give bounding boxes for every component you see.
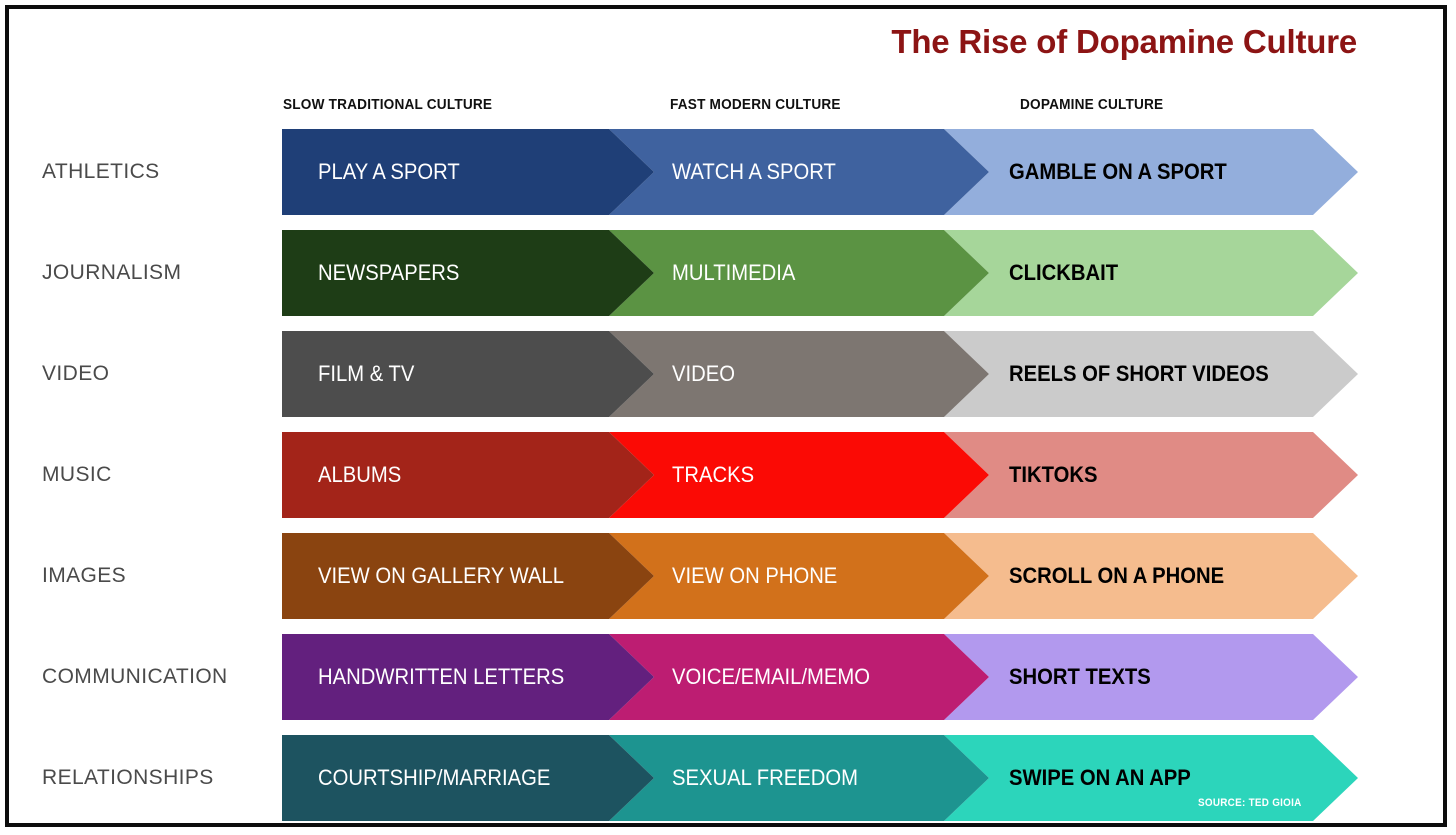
chevron-segment[interactable]: PLAY A SPORT bbox=[282, 129, 654, 215]
row-label-athletics: ATHLETICS bbox=[42, 129, 278, 215]
chevron-segment[interactable]: VIEW ON PHONE bbox=[609, 533, 989, 619]
column-header-dopamine-culture: DOPAMINE CULTURE bbox=[1020, 97, 1163, 113]
chevron-segment-label: COURTSHIP/MARRIAGE bbox=[318, 765, 550, 791]
chevron-row: HANDWRITTEN LETTERSVOICE/EMAIL/MEMOSHORT… bbox=[282, 634, 1358, 720]
infographic-frame: The Rise of Dopamine Culture SLOW TRADIT… bbox=[5, 5, 1447, 827]
chevron-segment[interactable]: MULTIMEDIA bbox=[609, 230, 989, 316]
chevron-segment[interactable]: FILM & TV bbox=[282, 331, 654, 417]
chevron-segment[interactable]: GAMBLE ON A SPORT bbox=[944, 129, 1358, 215]
chevron-segment[interactable]: CLICKBAIT bbox=[944, 230, 1358, 316]
chevron-segment[interactable]: VIEW ON GALLERY WALL bbox=[282, 533, 654, 619]
chevron-segment[interactable]: SCROLL ON A PHONE bbox=[944, 533, 1358, 619]
chevron-segment-label: PLAY A SPORT bbox=[318, 159, 460, 185]
chevron-segment-label: REELS OF SHORT VIDEOS bbox=[1009, 361, 1269, 387]
chevron-segment-label: TIKTOKS bbox=[1009, 462, 1097, 488]
chevron-segment[interactable]: COURTSHIP/MARRIAGE bbox=[282, 735, 654, 821]
row-label-video: VIDEO bbox=[42, 331, 278, 417]
chevron-segment-label: CLICKBAIT bbox=[1009, 260, 1118, 286]
chevron-segment-label: SEXUAL FREEDOM bbox=[672, 765, 858, 791]
chevron-segment[interactable]: WATCH A SPORT bbox=[609, 129, 989, 215]
chevron-row: VIEW ON GALLERY WALLVIEW ON PHONESCROLL … bbox=[282, 533, 1358, 619]
row-label-relationships: RELATIONSHIPS bbox=[42, 735, 278, 821]
row-label-communication: COMMUNICATION bbox=[42, 634, 278, 720]
page-title: The Rise of Dopamine Culture bbox=[891, 23, 1357, 61]
chevron-row: NEWSPAPERSMULTIMEDIACLICKBAIT bbox=[282, 230, 1358, 316]
chevron-segment-label: WATCH A SPORT bbox=[672, 159, 836, 185]
column-header-slow-traditional-culture: SLOW TRADITIONAL CULTURE bbox=[283, 97, 492, 113]
source-credit: SOURCE: TED GIOIA bbox=[1198, 797, 1302, 809]
column-header-fast-modern-culture: FAST MODERN CULTURE bbox=[670, 97, 841, 113]
chevron-segment[interactable]: NEWSPAPERS bbox=[282, 230, 654, 316]
chevron-segment-label: VIDEO bbox=[672, 361, 735, 387]
row-label-journalism: JOURNALISM bbox=[42, 230, 278, 316]
chevron-segment[interactable]: VIDEO bbox=[609, 331, 989, 417]
chevron-segment-label: NEWSPAPERS bbox=[318, 260, 459, 286]
chevron-segment-label: HANDWRITTEN LETTERS bbox=[318, 664, 564, 690]
chevron-segment-label: TRACKS bbox=[672, 462, 754, 488]
chevron-segment[interactable]: VOICE/EMAIL/MEMO bbox=[609, 634, 989, 720]
chevron-segment-label: MULTIMEDIA bbox=[672, 260, 795, 286]
chevron-segment[interactable]: SHORT TEXTS bbox=[944, 634, 1358, 720]
chevron-segment-label: SCROLL ON A PHONE bbox=[1009, 563, 1224, 589]
chevron-segment-label: SHORT TEXTS bbox=[1009, 664, 1151, 690]
chevron-row: FILM & TVVIDEOREELS OF SHORT VIDEOS bbox=[282, 331, 1358, 417]
chevron-segment-label: GAMBLE ON A SPORT bbox=[1009, 159, 1227, 185]
chevron-row: COURTSHIP/MARRIAGESEXUAL FREEDOMSOURCE: … bbox=[282, 735, 1358, 821]
chevron-segment[interactable]: TIKTOKS bbox=[944, 432, 1358, 518]
chevron-segment-label: ALBUMS bbox=[318, 462, 401, 488]
chevron-segment-label: SWIPE ON AN APP bbox=[1009, 765, 1191, 791]
row-label-music: MUSIC bbox=[42, 432, 278, 518]
chevron-segment[interactable]: REELS OF SHORT VIDEOS bbox=[944, 331, 1358, 417]
chevron-row: PLAY A SPORTWATCH A SPORTGAMBLE ON A SPO… bbox=[282, 129, 1358, 215]
row-label-images: IMAGES bbox=[42, 533, 278, 619]
chevron-segment-label: VIEW ON PHONE bbox=[672, 563, 837, 589]
chevron-segment-label: VOICE/EMAIL/MEMO bbox=[672, 664, 870, 690]
chevron-segment[interactable]: TRACKS bbox=[609, 432, 989, 518]
chevron-segment[interactable]: HANDWRITTEN LETTERS bbox=[282, 634, 654, 720]
chevron-segment[interactable]: ALBUMS bbox=[282, 432, 654, 518]
chevron-row: ALBUMSTRACKSTIKTOKS bbox=[282, 432, 1358, 518]
chevron-segment[interactable]: SEXUAL FREEDOM bbox=[609, 735, 989, 821]
chevron-segment-label: FILM & TV bbox=[318, 361, 414, 387]
chevron-segment-label: VIEW ON GALLERY WALL bbox=[318, 563, 564, 589]
